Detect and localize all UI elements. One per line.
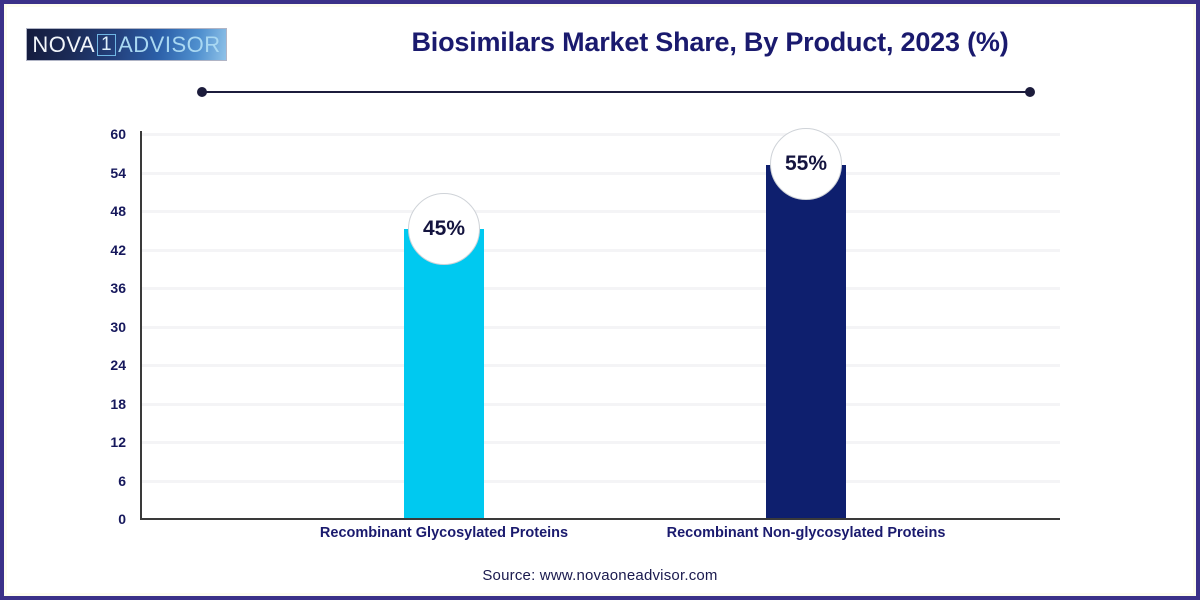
logo-text-advisor: ADVISOR xyxy=(118,34,221,56)
y-tick-label: 30 xyxy=(92,320,126,334)
y-tick-label: 60 xyxy=(92,127,126,141)
gridline xyxy=(142,210,1060,213)
title-divider xyxy=(200,86,1032,98)
bar-recombinant-non-glycosylated-proteins[interactable] xyxy=(766,165,846,518)
data-label-bubble: 55% xyxy=(770,128,842,200)
gridline xyxy=(142,133,1060,136)
divider-line xyxy=(200,91,1032,93)
y-tick-label: 0 xyxy=(92,512,126,526)
y-tick-label: 54 xyxy=(92,166,126,180)
novaoneadvisor-logo[interactable]: NOVA 1 ADVISOR xyxy=(27,29,226,60)
logo-text-nova: NOVA xyxy=(32,34,95,56)
gridline xyxy=(142,172,1060,175)
gridline xyxy=(142,326,1060,329)
logo-badge-one: 1 xyxy=(97,34,116,56)
y-tick-label: 6 xyxy=(92,474,126,488)
gridline xyxy=(142,403,1060,406)
y-tick-label: 36 xyxy=(92,281,126,295)
x-axis-line xyxy=(140,518,1060,520)
y-tick-label: 42 xyxy=(92,243,126,257)
source-attribution: Source: www.novaoneadvisor.com xyxy=(0,567,1200,584)
chart-canvas: NOVA 1 ADVISOR Biosimilars Market Share,… xyxy=(0,0,1200,600)
gridline xyxy=(142,441,1060,444)
divider-dot-right-icon xyxy=(1025,87,1035,97)
y-tick-label: 18 xyxy=(92,397,126,411)
gridline xyxy=(142,480,1060,483)
gridline xyxy=(142,364,1060,367)
x-category-label: Recombinant Glycosylated Proteins xyxy=(320,525,568,541)
divider-dot-left-icon xyxy=(197,87,207,97)
bar-recombinant-glycosylated-proteins[interactable] xyxy=(404,229,484,518)
y-tick-label: 24 xyxy=(92,358,126,372)
y-tick-label: 12 xyxy=(92,435,126,449)
x-category-label: Recombinant Non-glycosylated Proteins xyxy=(667,525,946,541)
plot-area: 60 54 48 42 36 30 24 18 12 6 0 45% 55% R… xyxy=(140,133,1060,518)
gridline xyxy=(142,287,1060,290)
data-label-bubble: 45% xyxy=(408,193,480,265)
y-tick-label: 48 xyxy=(92,204,126,218)
chart-title: Biosimilars Market Share, By Product, 20… xyxy=(240,27,1180,58)
gridline xyxy=(142,249,1060,252)
